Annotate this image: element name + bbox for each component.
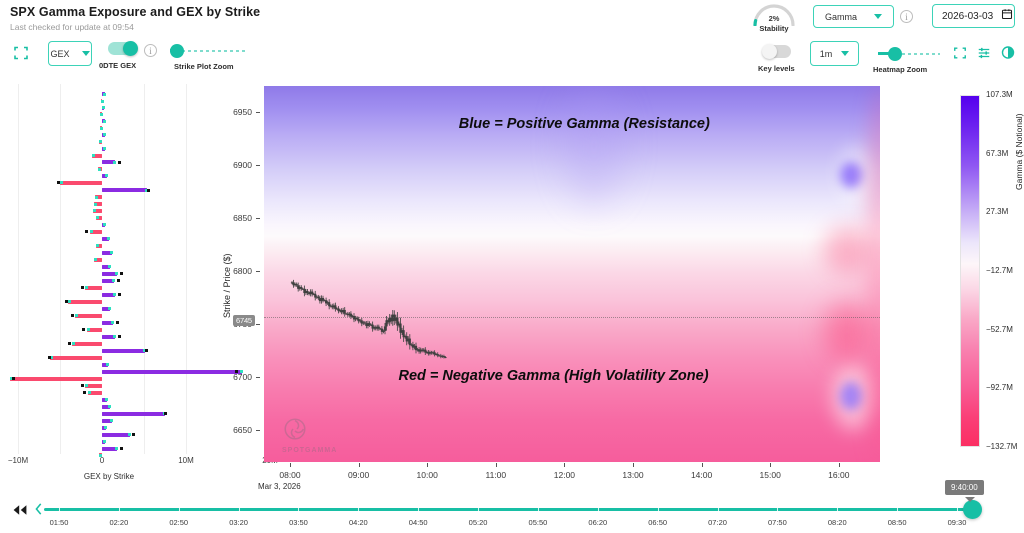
colorbar-tick: −52.7M [986, 325, 1013, 334]
heatmap-x-tick-mark [839, 463, 840, 467]
gex-odte-marker [90, 230, 93, 233]
timeline-tick: 06:20 [588, 518, 607, 527]
chevron-down-icon [82, 51, 90, 56]
timeline-tick: 02:20 [109, 518, 128, 527]
gex-prior-marker [65, 300, 68, 303]
heatmap-y-tick: 6900 [212, 160, 252, 170]
heatmap-x-tick: 12:00 [554, 470, 575, 480]
heatmap-x-tick-mark [359, 463, 360, 467]
current-price-line [264, 317, 880, 318]
gex-x-tick: −10M [8, 456, 28, 465]
heatmap-y-tick-mark [256, 377, 260, 378]
heatmap-y-tick-mark [256, 112, 260, 113]
gex-bar [102, 188, 147, 192]
gex-odte-marker [108, 307, 111, 310]
gex-odte-marker [110, 251, 113, 254]
slider-thumb[interactable] [888, 47, 902, 61]
gex-odte-marker [96, 244, 99, 247]
timeline-notch [718, 505, 719, 514]
heatmap-x-tick-mark [290, 463, 291, 467]
gex-odte-marker [112, 279, 115, 282]
gex-prior-marker [132, 433, 135, 436]
heatmap-zoom-label: Heatmap Zoom [873, 65, 927, 74]
strike-plot-zoom-label: Strike Plot Zoom [174, 62, 234, 71]
gex-x-tick: 10M [178, 456, 194, 465]
gex-prior-marker [120, 272, 123, 275]
gex-prior-marker [120, 447, 123, 450]
calendar-icon [1001, 7, 1013, 25]
gex-odte-marker [113, 161, 116, 164]
gex-prior-marker [164, 412, 167, 415]
rewind-icon[interactable] [12, 503, 28, 521]
odte-gex-toggle[interactable] [108, 42, 136, 55]
heatmap-x-tick: 09:00 [348, 470, 369, 480]
metric-select[interactable]: GEX [48, 41, 92, 66]
toggle-knob [123, 41, 138, 56]
heatmap-x-tick: 15:00 [760, 470, 781, 480]
odte-gex-label: 0DTE GEX [99, 61, 136, 70]
interval-select-value: 1m [820, 49, 833, 59]
gex-odte-marker [103, 223, 106, 226]
gex-prior-marker [147, 189, 150, 192]
gamma-heatmap[interactable]: Blue = Positive Gamma (Resistance) Red =… [264, 86, 880, 462]
timeline-tick: 08:50 [888, 518, 907, 527]
timeline-notch [957, 505, 958, 514]
gex-prior-marker [57, 181, 60, 184]
timeline-tick: 01:50 [50, 518, 69, 527]
toggle-knob [762, 44, 777, 59]
gex-odte-marker [111, 321, 114, 324]
gex-odte-marker [105, 398, 108, 401]
heatmap-y-tick-mark [256, 218, 260, 219]
date-picker-value: 2026-03-03 [942, 11, 993, 22]
heatmap-y-tick-mark [256, 324, 260, 325]
gex-prior-marker [83, 391, 86, 394]
heatmap-y-tick: 6700 [212, 372, 252, 382]
gex-prior-marker [81, 384, 84, 387]
timeline-notch [59, 505, 60, 514]
colorbar-tick: 107.3M [986, 90, 1013, 99]
gex-prior-marker [12, 377, 15, 380]
gex-odte-marker [104, 426, 107, 429]
watermark-text: SPOTGAMMA [282, 447, 337, 454]
heatmap-x-tick-mark [564, 463, 565, 467]
gex-odte-marker [98, 168, 101, 171]
colorbar [960, 95, 980, 447]
gex-bar [102, 349, 145, 353]
chevron-down-icon [874, 14, 882, 19]
heatmap-y-tick-mark [256, 430, 260, 431]
gex-prior-marker [68, 342, 71, 345]
colorbar-tick: 27.3M [986, 207, 1008, 216]
gex-odte-marker [115, 272, 118, 275]
gex-prior-marker [116, 321, 119, 324]
heatmap-x-tick-mark [702, 463, 703, 467]
timeline-notch [837, 505, 838, 514]
gex-odte-marker [85, 384, 88, 387]
gex-bar [60, 181, 102, 185]
gex-odte-marker [110, 419, 113, 422]
timeline-notch [239, 505, 240, 514]
gamma-select-value: Gamma [825, 12, 857, 22]
timeline-notch [119, 505, 120, 514]
gex-odte-marker [101, 100, 104, 103]
heatmap-y-axis-title: Strike / Price ($) [222, 253, 232, 318]
step-back-icon[interactable] [33, 502, 45, 521]
key-levels-toggle[interactable] [763, 45, 791, 58]
gex-prior-marker [71, 314, 74, 317]
stability-label: Stability [751, 24, 797, 33]
gex-odte-marker [102, 106, 105, 109]
heatmap-y-tick: 6800 [212, 266, 252, 276]
gex-prior-marker [85, 230, 88, 233]
timeline-tick: 05:50 [529, 518, 548, 527]
gex-odte-marker [99, 140, 102, 143]
gex-odte-marker [75, 314, 78, 317]
heatmap-x-tick-mark [770, 463, 771, 467]
gex-prior-marker [118, 335, 121, 338]
timeline-tooltip: 9:40:00 [945, 480, 984, 495]
gex-odte-marker [60, 181, 63, 184]
colorbar-title: Gamma ($ Notional) [1014, 113, 1024, 190]
gex-prior-marker [117, 279, 120, 282]
gex-odte-marker [103, 93, 106, 96]
interval-select[interactable]: 1m [810, 41, 859, 66]
contrast-icon[interactable] [1001, 45, 1015, 60]
timeline-notch [298, 505, 299, 514]
heatmap-x-tick: 11:00 [485, 470, 506, 480]
gex-odte-marker [96, 216, 99, 219]
gex-prior-marker [118, 161, 121, 164]
page-title: SPX Gamma Exposure and GEX by Strike [10, 5, 260, 19]
gex-odte-marker [107, 237, 110, 240]
timeline-tick: 06:50 [648, 518, 667, 527]
expand-icon[interactable] [13, 45, 29, 61]
gridline [60, 84, 61, 454]
timeline-notch [179, 505, 180, 514]
gex-bar [102, 433, 130, 437]
heatmap-x-tick: 16:00 [828, 470, 849, 480]
gex-odte-marker [68, 300, 71, 303]
timeline-tick: 07:20 [708, 518, 727, 527]
gridline [144, 84, 145, 454]
timeline-tick: 08:20 [828, 518, 847, 527]
fullscreen-icon[interactable] [953, 46, 967, 60]
gex-odte-marker [87, 328, 90, 331]
stability-gauge: 2% Stability [751, 2, 797, 36]
gex-odte-marker [103, 147, 106, 150]
timeline-notch [598, 505, 599, 514]
gex-odte-marker [100, 127, 103, 130]
gamma-select[interactable]: Gamma [813, 5, 894, 28]
gex-by-strike-chart[interactable]: −20M−10M010M20M GEX by Strike [0, 84, 218, 482]
gex-prior-marker [145, 349, 148, 352]
gex-odte-marker [128, 433, 131, 436]
heatmap-x-tick: 08:00 [279, 470, 300, 480]
gex-bar [102, 412, 165, 416]
colorbar-tick: −132.7M [986, 442, 1017, 451]
gex-prior-marker [118, 293, 121, 296]
timeline-tick: 03:20 [229, 518, 248, 527]
colorbar-tick: −12.7M [986, 266, 1013, 275]
timeline-tick: 05:20 [469, 518, 488, 527]
gridline [186, 84, 187, 454]
slider-thumb[interactable] [170, 44, 184, 58]
annotation-negative-gamma: Red = Negative Gamma (High Volatility Zo… [398, 368, 708, 384]
gex-odte-marker [103, 133, 106, 136]
gridline [18, 84, 19, 454]
gex-prior-marker [82, 328, 85, 331]
gex-odte-marker [103, 440, 106, 443]
gex-odte-marker [85, 286, 88, 289]
timeline-notch [777, 505, 778, 514]
gex-odte-marker [88, 391, 91, 394]
stability-value: 2% [751, 14, 797, 23]
timeline-tooltip-arrow [965, 497, 975, 502]
gex-odte-marker [115, 447, 118, 450]
heatmap-zoom-slider[interactable] [878, 47, 940, 61]
colorbar-tick: 67.3M [986, 149, 1008, 158]
heatmap-x-tick: 14:00 [691, 470, 712, 480]
strike-plot-zoom-slider[interactable] [170, 44, 246, 58]
heatmap-y-tick-mark [256, 165, 260, 166]
gex-bar [75, 314, 102, 318]
metric-select-value: GEX [50, 49, 69, 59]
heatmap-x-tick-mark [427, 463, 428, 467]
heatmap-y-tick: 6850 [212, 213, 252, 223]
last-checked-text: Last checked for update at 09:54 [10, 22, 134, 32]
heatmap-x-tick-mark [633, 463, 634, 467]
date-picker[interactable]: 2026-03-03 [932, 4, 1015, 28]
gex-odte-marker [100, 113, 103, 116]
timeline-notch [658, 505, 659, 514]
heatmap-y-tick-mark [256, 271, 260, 272]
gex-odte-marker [113, 293, 116, 296]
gex-bar [72, 342, 102, 346]
gex-bar [10, 377, 102, 381]
timeline-tick: 04:20 [349, 518, 368, 527]
timeline-notch [418, 505, 419, 514]
heatmap-x-tick: 13:00 [622, 470, 643, 480]
timeline-tick: 03:50 [289, 518, 308, 527]
colorbar-tick: −92.7M [986, 383, 1013, 392]
chevron-down-icon [841, 51, 849, 56]
timeline-notch [897, 505, 898, 514]
heatmap-x-tick-mark [496, 463, 497, 467]
gex-odte-marker [108, 265, 111, 268]
gex-odte-marker [94, 258, 97, 261]
gex-odte-marker [72, 342, 75, 345]
timeline-notch [478, 505, 479, 514]
gex-bar [68, 300, 102, 304]
heatmap-y-tick: 6650 [212, 425, 252, 435]
price-candles [264, 86, 880, 462]
gex-odte-marker [93, 209, 96, 212]
gex-prior-marker [48, 356, 51, 359]
gex-odte-marker [94, 203, 97, 206]
gex-odte-marker [106, 363, 109, 366]
timeline-scrubber[interactable]: 01:5002:2002:5003:2003:5004:2004:5005:20… [0, 496, 1024, 533]
timeline-thumb[interactable] [963, 500, 982, 519]
timeline-notch [358, 505, 359, 514]
timeline-track[interactable] [44, 508, 972, 511]
heatmap-canvas: Blue = Positive Gamma (Resistance) Red =… [264, 86, 880, 462]
settings-sliders-icon[interactable] [977, 46, 991, 60]
key-levels-label: Key levels [758, 64, 795, 73]
gex-odte-marker [92, 154, 95, 157]
heatmap-y-tick: 6950 [212, 107, 252, 117]
timeline-tick: 04:50 [409, 518, 428, 527]
gex-odte-marker [113, 335, 116, 338]
gex-odte-marker [95, 196, 98, 199]
annotation-positive-gamma: Blue = Positive Gamma (Resistance) [459, 116, 710, 132]
gex-x-tick: 0 [100, 456, 104, 465]
gex-odte-marker [103, 120, 106, 123]
app-root: SPX Gamma Exposure and GEX by Strike Las… [0, 0, 1024, 533]
info-icon[interactable]: i [144, 44, 157, 57]
timeline-tick: 09:30 [948, 518, 967, 527]
timeline-tick: 02:50 [169, 518, 188, 527]
heatmap-x-tick: 10:00 [417, 470, 438, 480]
gex-x-axis-title: GEX by Strike [0, 472, 218, 481]
timeline-tick: 07:50 [768, 518, 787, 527]
gex-bar [50, 356, 102, 360]
current-price-tag: 6745 [233, 315, 255, 326]
gex-prior-marker [81, 286, 84, 289]
gex-odte-marker [105, 174, 108, 177]
gex-odte-marker [108, 405, 111, 408]
info-icon[interactable]: i [900, 10, 913, 23]
spotgamma-watermark: SPOTGAMMA [282, 416, 337, 454]
timeline-notch [538, 505, 539, 514]
heatmap-date-label: Mar 3, 2026 [258, 482, 301, 491]
